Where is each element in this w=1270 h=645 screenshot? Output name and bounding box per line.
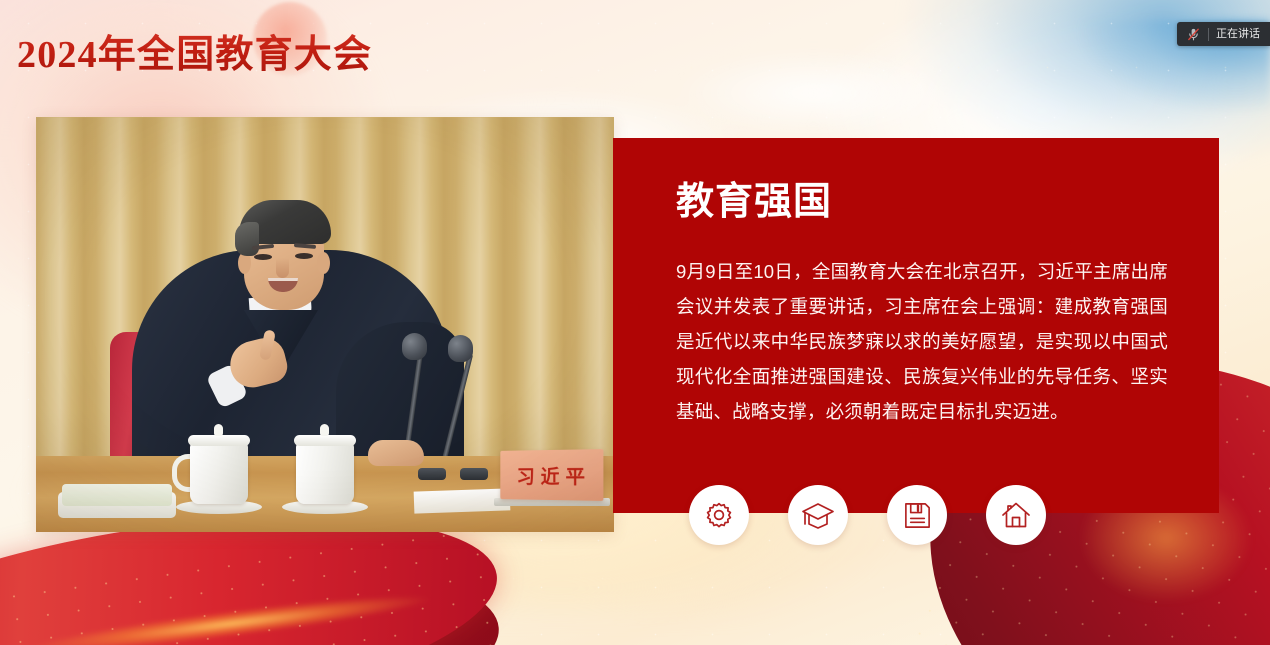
photo-teacup-knob-1 [214,424,223,436]
photo-nameplate: 习近平 [500,449,603,501]
photo-teacup-lid-2 [294,435,356,446]
action-button-row [689,485,1046,545]
speaking-status-badge[interactable]: 正在讲话 [1177,22,1270,46]
home-icon [1000,499,1032,531]
photo-person-nose [276,258,289,278]
photo-microphone-base-2 [460,468,488,480]
photo-napkin [62,484,172,506]
badge-divider [1208,28,1209,41]
photo-microphone-head-1 [402,333,427,360]
panel-heading: 教育强国 [676,180,832,224]
floppy-disk-icon [902,500,933,531]
speaking-status-label: 正在讲话 [1216,22,1264,46]
photo-teacup-2 [296,442,354,504]
photo-person-ear-right [317,252,330,274]
photo-microphone-base-1 [418,468,446,480]
conference-photo: 习近平 [36,117,614,532]
page-title: 2024年全国教育大会 [17,30,372,80]
photo-nameplate-text: 习近平 [511,461,591,489]
graduation-cap-icon [801,499,835,531]
photo-person-hair-side [235,222,259,256]
microphone-muted-icon [1185,26,1201,42]
content-panel: 教育强国 9月9日至10日，全国教育大会在北京召开，习近平主席出席会议并发表了重… [613,138,1219,513]
settings-button[interactable] [689,485,749,545]
photo-person-hand-on-desk [368,440,424,466]
photo-teacup-1 [190,442,248,504]
photo-person-eye-right [295,253,313,259]
gear-icon [703,499,735,531]
education-button[interactable] [788,485,848,545]
photo-teacup-knob-2 [320,424,329,436]
panel-body-text: 9月9日至10日，全国教育大会在北京召开，习近平主席出席会议并发表了重要讲话，习… [676,254,1168,429]
photo-teacup-lid-1 [188,435,250,446]
poster-stage: 2024年全国教育大会 正在讲话 [0,0,1270,645]
photo-microphone-head-2 [448,335,473,362]
home-button[interactable] [986,485,1046,545]
save-button[interactable] [887,485,947,545]
photo-person-eye-left [254,254,272,260]
